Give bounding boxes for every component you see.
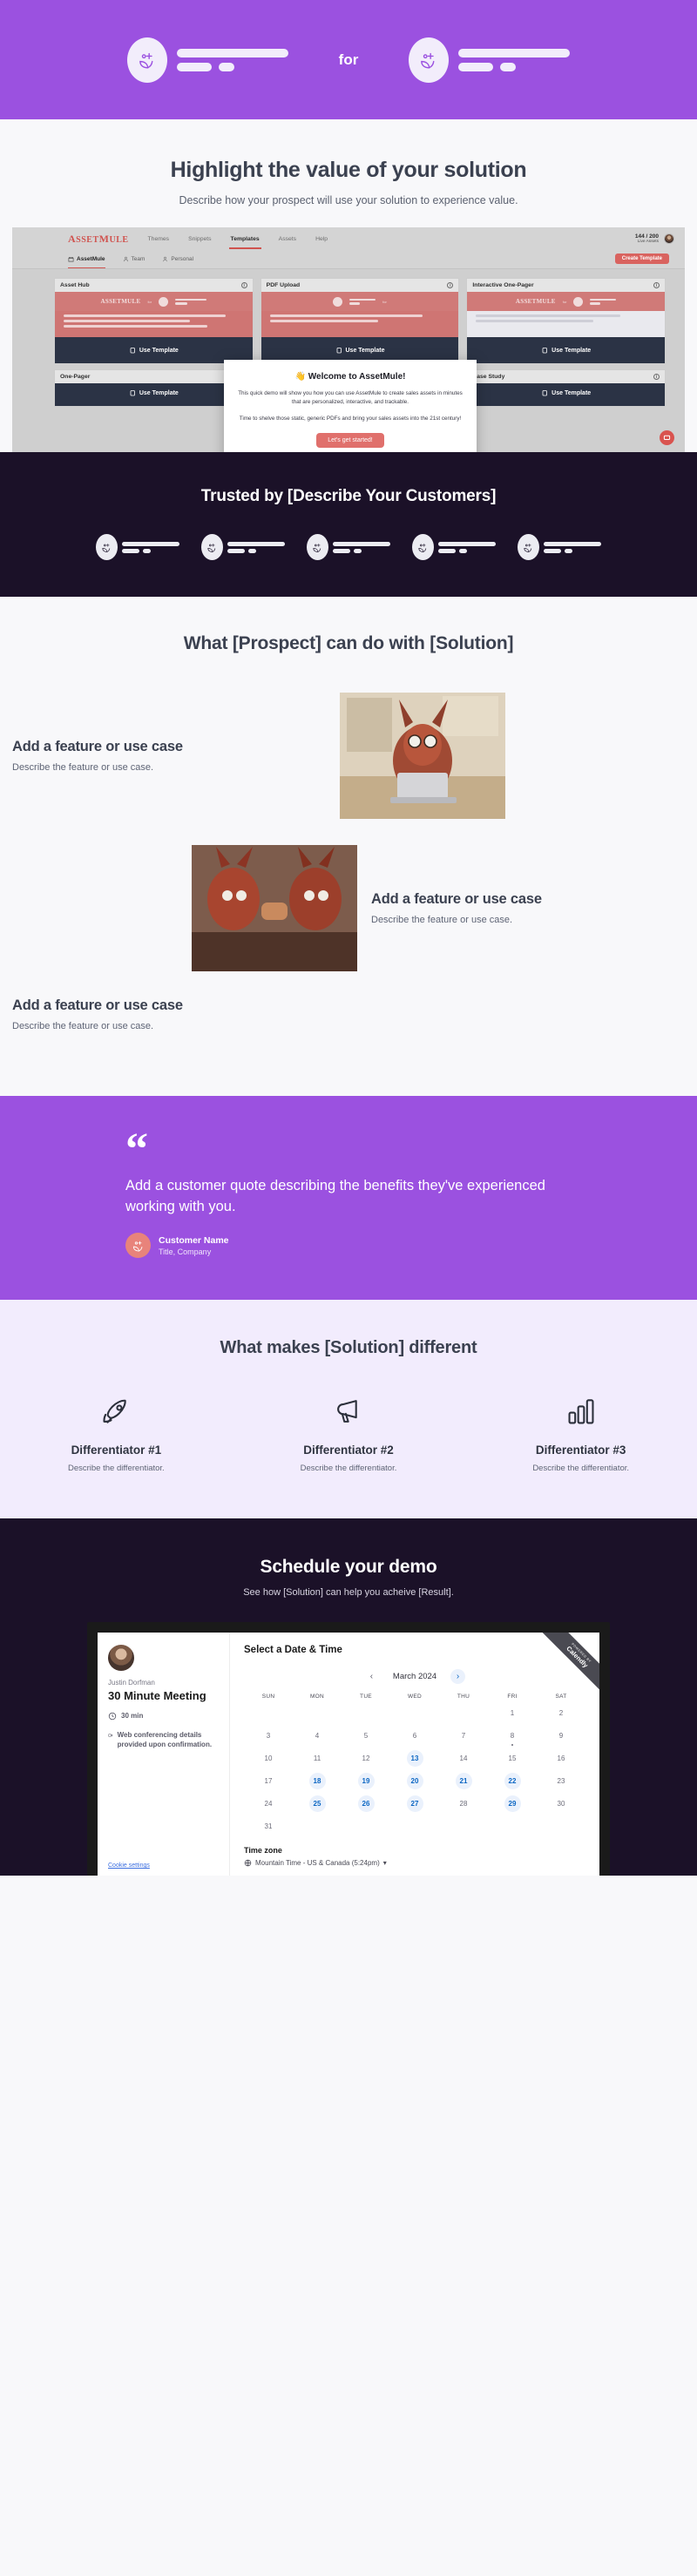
product-demo-embed[interactable]: ASSETMULE Themes Snippets Templates Asse…: [12, 227, 685, 452]
differentiator-body: Describe the differentiator.: [477, 1464, 685, 1473]
calendar-cell: [342, 1817, 390, 1836]
trusted-by-section: Trusted by [Describe Your Customers]: [0, 452, 697, 597]
video-camera-icon: [108, 1731, 113, 1740]
calendar-week-row: 31: [244, 1817, 585, 1836]
calendar-cell: 14: [439, 1749, 488, 1768]
schedule-title: Schedule your demo: [0, 1557, 697, 1578]
hero-subtitle: Describe how your prospect will use your…: [0, 194, 697, 206]
calendar-cell: 6: [390, 1727, 439, 1745]
calendar-cell: 11: [293, 1749, 342, 1768]
copy-icon: [335, 347, 342, 354]
app-nav-templates[interactable]: Templates: [231, 236, 260, 242]
globe-icon: [244, 1859, 252, 1867]
calendar-cell: [439, 1704, 488, 1722]
customer-logo-icon: [307, 534, 328, 560]
calendar-cell: [293, 1817, 342, 1836]
customer-logo-icon: [412, 534, 434, 560]
use-template-button[interactable]: Use Template: [467, 383, 665, 406]
use-template-label: Use Template: [139, 390, 179, 396]
calendar-cell: [244, 1704, 293, 1722]
app-top-nav: ASSETMULE Themes Snippets Templates Asse…: [12, 227, 685, 250]
calendar-day: 11: [309, 1750, 326, 1767]
copy-icon: [541, 389, 548, 396]
page-header: for: [0, 0, 697, 119]
customer-logo-placeholder: [307, 534, 390, 560]
day-of-week-header: SUN MON TUE WED THU FRI SAT: [244, 1694, 585, 1700]
differentiator-heading: Differentiator #3: [477, 1444, 685, 1457]
info-icon[interactable]: i: [653, 282, 660, 288]
app-nav-right: 144 / 200 Live Assets: [635, 233, 674, 245]
card-title: PDF Upload: [267, 282, 301, 288]
calendar-day: 4: [309, 1727, 326, 1744]
app-nav-assets[interactable]: Assets: [279, 236, 296, 242]
calendar-cell: 30: [537, 1795, 585, 1813]
subnav-team[interactable]: Team: [123, 256, 145, 262]
welcome-modal: 👋 Welcome to AssetMule! This quick demo …: [224, 360, 477, 452]
customer-name: Customer Name: [159, 1235, 229, 1246]
duration-text: 30 min: [121, 1712, 143, 1721]
assetmule-logo: ASSETMULE: [68, 233, 129, 246]
customer-logo-placeholder: [518, 534, 601, 560]
calendar-day: 10: [261, 1750, 277, 1767]
calendar-week-row: 3456789: [244, 1727, 585, 1745]
use-template-button[interactable]: Use Template: [55, 337, 253, 363]
card-title: Interactive One-Pager: [472, 282, 533, 288]
calendar-day: 16: [553, 1750, 570, 1767]
calendar-day[interactable]: 26: [358, 1795, 375, 1812]
calendar-cell: 5: [342, 1727, 390, 1745]
calendar-day[interactable]: 13: [407, 1750, 423, 1767]
schedule-subtitle: See how [Solution] can help you acheive …: [0, 1587, 697, 1598]
differentiators-title: What makes [Solution] different: [0, 1338, 697, 1358]
cookie-settings-link[interactable]: Cookie settings: [108, 1863, 150, 1869]
timezone-label: Time zone: [244, 1846, 585, 1855]
differentiator-item: Differentiator #1 Describe the different…: [0, 1393, 233, 1473]
differentiator-item: Differentiator #2 Describe the different…: [233, 1393, 465, 1473]
usage-label: Live Assets: [635, 240, 659, 245]
subnav-label: Team: [132, 256, 145, 262]
feature-row: Add a feature or use case Describe the f…: [12, 693, 685, 819]
calendar-cell: 12: [342, 1749, 390, 1768]
prospect-logo-icon: [409, 37, 449, 83]
megaphone-icon: [245, 1393, 453, 1430]
calendar-cell: 17: [244, 1772, 293, 1790]
dow-label: SAT: [537, 1694, 585, 1700]
calendar-day: 28: [456, 1795, 472, 1812]
calendar-day: 8: [504, 1727, 521, 1744]
differentiator-body: Describe the differentiator.: [12, 1464, 220, 1473]
calendar-grid: 1234567891011121314151617181920212223242…: [244, 1704, 585, 1836]
customer-logo-icon: [518, 534, 539, 560]
calendar-cell: 16: [537, 1749, 585, 1768]
customer-logo-placeholder: [412, 534, 496, 560]
calendar-day[interactable]: 29: [504, 1795, 521, 1812]
calendar-cell: [537, 1817, 585, 1836]
calendar-cell: [488, 1817, 537, 1836]
page-title: Highlight the value of your solution: [0, 158, 697, 183]
differentiator-item: Differentiator #3 Describe the different…: [464, 1393, 697, 1473]
schedule-section: Schedule your demo See how [Solution] ca…: [0, 1518, 697, 1876]
calendar-cell: [390, 1704, 439, 1722]
calendar-day: 7: [456, 1727, 472, 1744]
company-logo-icon: [127, 37, 167, 83]
use-template-label: Use Template: [552, 390, 591, 396]
feature-row: Add a feature or use case Describe the f…: [12, 845, 685, 971]
feature-text: Add a feature or use case Describe the f…: [12, 997, 326, 1031]
connector-word: for: [339, 51, 359, 69]
info-icon[interactable]: i: [447, 282, 453, 288]
app-sub-nav: AssetMule Team Personal: [12, 250, 685, 269]
calendar-day[interactable]: 20: [407, 1773, 423, 1789]
calendar-day: 9: [553, 1727, 570, 1744]
calendar-day[interactable]: 22: [504, 1773, 521, 1789]
calendar-cell[interactable]: 29: [488, 1795, 537, 1813]
dow-label: WED: [390, 1694, 439, 1700]
clock-icon: [108, 1712, 117, 1721]
template-card[interactable]: PDF Uploadi for Use Template: [261, 278, 460, 364]
rocket-icon: [12, 1393, 220, 1430]
differentiator-heading: Differentiator #1: [12, 1444, 220, 1457]
calendar-cell: 8: [488, 1727, 537, 1745]
create-template-button[interactable]: Create Template: [615, 254, 669, 264]
timezone-value: Mountain Time - US & Canada (5:24pm): [255, 1859, 380, 1867]
customer-logo-placeholder: [96, 534, 179, 560]
template-card[interactable]: Asset Hubi ASSETMULEfor Use Template: [54, 278, 254, 364]
hero-section: Highlight the value of your solution Des…: [0, 119, 697, 452]
customer-logo-icon: [201, 534, 223, 560]
differentiator-body: Describe the differentiator.: [245, 1464, 453, 1473]
customer-avatar-icon: [125, 1233, 151, 1258]
calendar-day: 1: [504, 1705, 521, 1721]
month-navigation: ‹ March 2024 ›: [244, 1669, 585, 1684]
right-logo-placeholder: [409, 37, 570, 83]
template-card-row-1: Asset Hubi ASSETMULEfor Use Template PDF…: [54, 278, 666, 364]
use-template-label: Use Template: [346, 348, 385, 354]
customer-logo-row: [0, 534, 697, 560]
calendar-day: 24: [261, 1795, 277, 1812]
event-conferencing: Web conferencing details provided upon c…: [108, 1731, 219, 1750]
calendar-week-row: 12: [244, 1704, 585, 1722]
modal-cta-button[interactable]: Let's get started!: [316, 433, 384, 448]
dow-label: SUN: [244, 1694, 293, 1700]
card-title: One-Pager: [60, 374, 90, 380]
dow-label: TUE: [342, 1694, 390, 1700]
team-icon: [123, 256, 129, 262]
calendar-day: 3: [261, 1727, 277, 1744]
card-title: Asset Hub: [60, 282, 90, 288]
calendly-widget[interactable]: Justin Dorfman 30 Minute Meeting 30 min …: [98, 1633, 599, 1876]
calendar-cell: 7: [439, 1727, 488, 1745]
feature-heading: Add a feature or use case: [12, 739, 326, 755]
app-nav-help[interactable]: Help: [315, 236, 328, 242]
calendar-day: 2: [553, 1705, 570, 1721]
feature-heading: Add a feature or use case: [371, 891, 685, 908]
avatar[interactable]: [664, 233, 674, 244]
copy-icon: [129, 347, 136, 354]
calendar-cell[interactable]: 25: [293, 1795, 342, 1813]
differentiators-grid: Differentiator #1 Describe the different…: [0, 1393, 697, 1473]
calendar-cell: [293, 1704, 342, 1722]
timezone-block: Time zone Mountain Time - US & Canada (5…: [244, 1846, 585, 1867]
person-icon: [162, 256, 168, 262]
calendar-cell: [439, 1817, 488, 1836]
calendar-cell: 2: [537, 1704, 585, 1722]
feature-image: [340, 693, 505, 819]
calendar-cell: 28: [439, 1795, 488, 1813]
calendar-day: 5: [358, 1727, 375, 1744]
chevron-down-icon: ▾: [383, 1859, 387, 1867]
calendar-day[interactable]: 21: [456, 1773, 472, 1789]
calendar-cell: 1: [488, 1704, 537, 1722]
timezone-selector[interactable]: Mountain Time - US & Canada (5:24pm) ▾: [244, 1859, 585, 1867]
logo-text-placeholder: [458, 49, 570, 71]
calendar-day: 30: [553, 1795, 570, 1812]
differentiator-heading: Differentiator #2: [245, 1444, 453, 1457]
event-duration: 30 min: [108, 1712, 219, 1721]
feature-row: Add a feature or use case Describe the f…: [12, 997, 685, 1031]
copy-icon: [541, 347, 548, 354]
conferencing-text: Web conferencing details provided upon c…: [118, 1731, 219, 1750]
ribbon-brand-text: Calendly: [540, 1633, 599, 1694]
left-logo-placeholder: [127, 37, 288, 83]
illustration-donkey-at-desk: [340, 693, 505, 819]
calendar-cell[interactable]: 13: [390, 1749, 439, 1768]
feature-heading: Add a feature or use case: [12, 997, 326, 1014]
subnav-label: Personal: [171, 256, 193, 262]
current-month-label: March 2024: [393, 1672, 436, 1681]
dow-label: MON: [293, 1694, 342, 1700]
quote-text: Add a customer quote describing the bene…: [125, 1176, 561, 1217]
previous-month-button[interactable]: ‹: [364, 1669, 379, 1684]
feature-image: [192, 845, 357, 971]
calendar-day: 6: [407, 1727, 423, 1744]
calendar-cell: [342, 1704, 390, 1722]
calendar-day: 12: [358, 1750, 375, 1767]
calendar-cell[interactable]: 22: [488, 1772, 537, 1790]
feature-text: Add a feature or use case Describe the f…: [371, 891, 685, 925]
calendar-week-row: 24252627282930: [244, 1795, 585, 1813]
modal-body-2: Time to shelve those static, generic PDF…: [238, 415, 463, 423]
calendar-cell: 10: [244, 1749, 293, 1768]
calendar-cell: 15: [488, 1749, 537, 1768]
select-date-heading: Select a Date & Time: [244, 1645, 585, 1655]
calendly-date-picker: Select a Date & Time ‹ March 2024 › SUN …: [230, 1633, 599, 1876]
modal-title-text: Welcome to AssetMule!: [308, 372, 406, 382]
calendar-cell[interactable]: 18: [293, 1772, 342, 1790]
calendar-day[interactable]: 19: [358, 1773, 375, 1789]
wave-emoji: 👋: [295, 372, 306, 382]
subnav-personal[interactable]: Personal: [162, 256, 193, 262]
features-section: What [Prospect] can do with [Solution] A…: [0, 597, 697, 1096]
calendar-day[interactable]: 25: [309, 1795, 326, 1812]
calendar-week-row: 17181920212223: [244, 1772, 585, 1790]
calendar-cell[interactable]: 21: [439, 1772, 488, 1790]
use-template-label: Use Template: [139, 348, 179, 354]
calendar-day[interactable]: 27: [407, 1795, 423, 1812]
powered-by-calendly-ribbon: POWERED BY Calendly: [535, 1633, 599, 1697]
app-nav-snippets[interactable]: Snippets: [188, 236, 211, 242]
calendar-cell[interactable]: 26: [342, 1795, 390, 1813]
calendar-day: 31: [261, 1818, 277, 1835]
calendar-cell: 9: [537, 1727, 585, 1745]
calendar-day: 15: [504, 1750, 521, 1767]
trusted-by-title: Trusted by [Describe Your Customers]: [0, 487, 697, 506]
copy-icon: [129, 389, 136, 396]
next-month-button[interactable]: ›: [450, 1669, 465, 1684]
template-card[interactable]: Case Studyi Use Template: [466, 369, 666, 407]
customer-logo-icon: [96, 534, 118, 560]
modal-title: 👋 Welcome to AssetMule!: [238, 372, 463, 382]
use-template-label: Use Template: [552, 348, 591, 354]
calendar-cell: 3: [244, 1727, 293, 1745]
calendar-week-row: 10111213141516: [244, 1749, 585, 1768]
subnav-label: AssetMule: [77, 256, 105, 262]
calendar-cell: 4: [293, 1727, 342, 1745]
feature-body: Describe the feature or use case.: [12, 1021, 326, 1031]
calendar-day[interactable]: 18: [309, 1773, 326, 1789]
chat-icon: [663, 434, 671, 442]
illustration-two-donkeys-arm-wrestling: [192, 845, 357, 971]
calendar-day: 23: [553, 1773, 570, 1789]
calendar-cell: 23: [537, 1772, 585, 1790]
calendar-cell: 31: [244, 1817, 293, 1836]
quote-mark-icon: “: [125, 1136, 601, 1164]
modal-body-1: This quick demo will show you how you ca…: [238, 389, 463, 408]
calendar-day: 14: [456, 1750, 472, 1767]
features-title: What [Prospect] can do with [Solution]: [0, 633, 697, 654]
feature-body: Describe the feature or use case.: [371, 915, 685, 925]
feature-body: Describe the feature or use case.: [12, 762, 326, 773]
logo-text-placeholder: [177, 49, 288, 71]
customer-quote-section: “ Add a customer quote describing the be…: [0, 1096, 697, 1300]
feature-text: Add a feature or use case Describe the f…: [12, 739, 326, 773]
landing-page: for Highlight the value of your solution…: [0, 0, 697, 1876]
bar-chart-icon: [477, 1393, 685, 1430]
dow-label: THU: [439, 1694, 488, 1700]
calendar-cell: [390, 1817, 439, 1836]
calendar-cell[interactable]: 20: [390, 1772, 439, 1790]
customer-title: Title, Company: [159, 1247, 229, 1256]
host-name: Justin Dorfman: [108, 1679, 219, 1687]
chat-widget-button[interactable]: [660, 430, 674, 445]
calendar-cell[interactable]: 27: [390, 1795, 439, 1813]
dow-label: FRI: [488, 1694, 537, 1700]
template-card[interactable]: Interactive One-Pageri ASSETMULEfor Use …: [466, 278, 666, 364]
event-title: 30 Minute Meeting: [108, 1689, 219, 1702]
store-icon: [68, 256, 74, 262]
quote-author: Customer Name Title, Company: [125, 1233, 601, 1258]
subnav-assetmule[interactable]: AssetMule: [68, 256, 105, 262]
live-assets-usage: 144 / 200 Live Assets: [635, 233, 659, 245]
calendar-day: 17: [261, 1773, 277, 1789]
app-nav-themes[interactable]: Themes: [148, 236, 170, 242]
usage-count: 144 / 200: [635, 233, 659, 240]
calendly-container: Justin Dorfman 30 Minute Meeting 30 min …: [87, 1622, 610, 1876]
calendar-cell: 24: [244, 1795, 293, 1813]
calendly-event-details: Justin Dorfman 30 Minute Meeting 30 min …: [98, 1633, 230, 1876]
use-template-button[interactable]: Use Template: [55, 383, 253, 406]
card-title: Case Study: [472, 374, 504, 380]
use-template-button[interactable]: Use Template: [467, 337, 665, 363]
calendar-cell[interactable]: 19: [342, 1772, 390, 1790]
info-icon[interactable]: i: [241, 282, 247, 288]
customer-logo-placeholder: [201, 534, 285, 560]
day-indicator-dot: [511, 1744, 513, 1746]
differentiators-section: What makes [Solution] different Differen…: [0, 1300, 697, 1518]
info-icon[interactable]: i: [653, 374, 660, 380]
host-avatar: [108, 1645, 134, 1671]
features-grid: Add a feature or use case Describe the f…: [0, 693, 697, 1031]
